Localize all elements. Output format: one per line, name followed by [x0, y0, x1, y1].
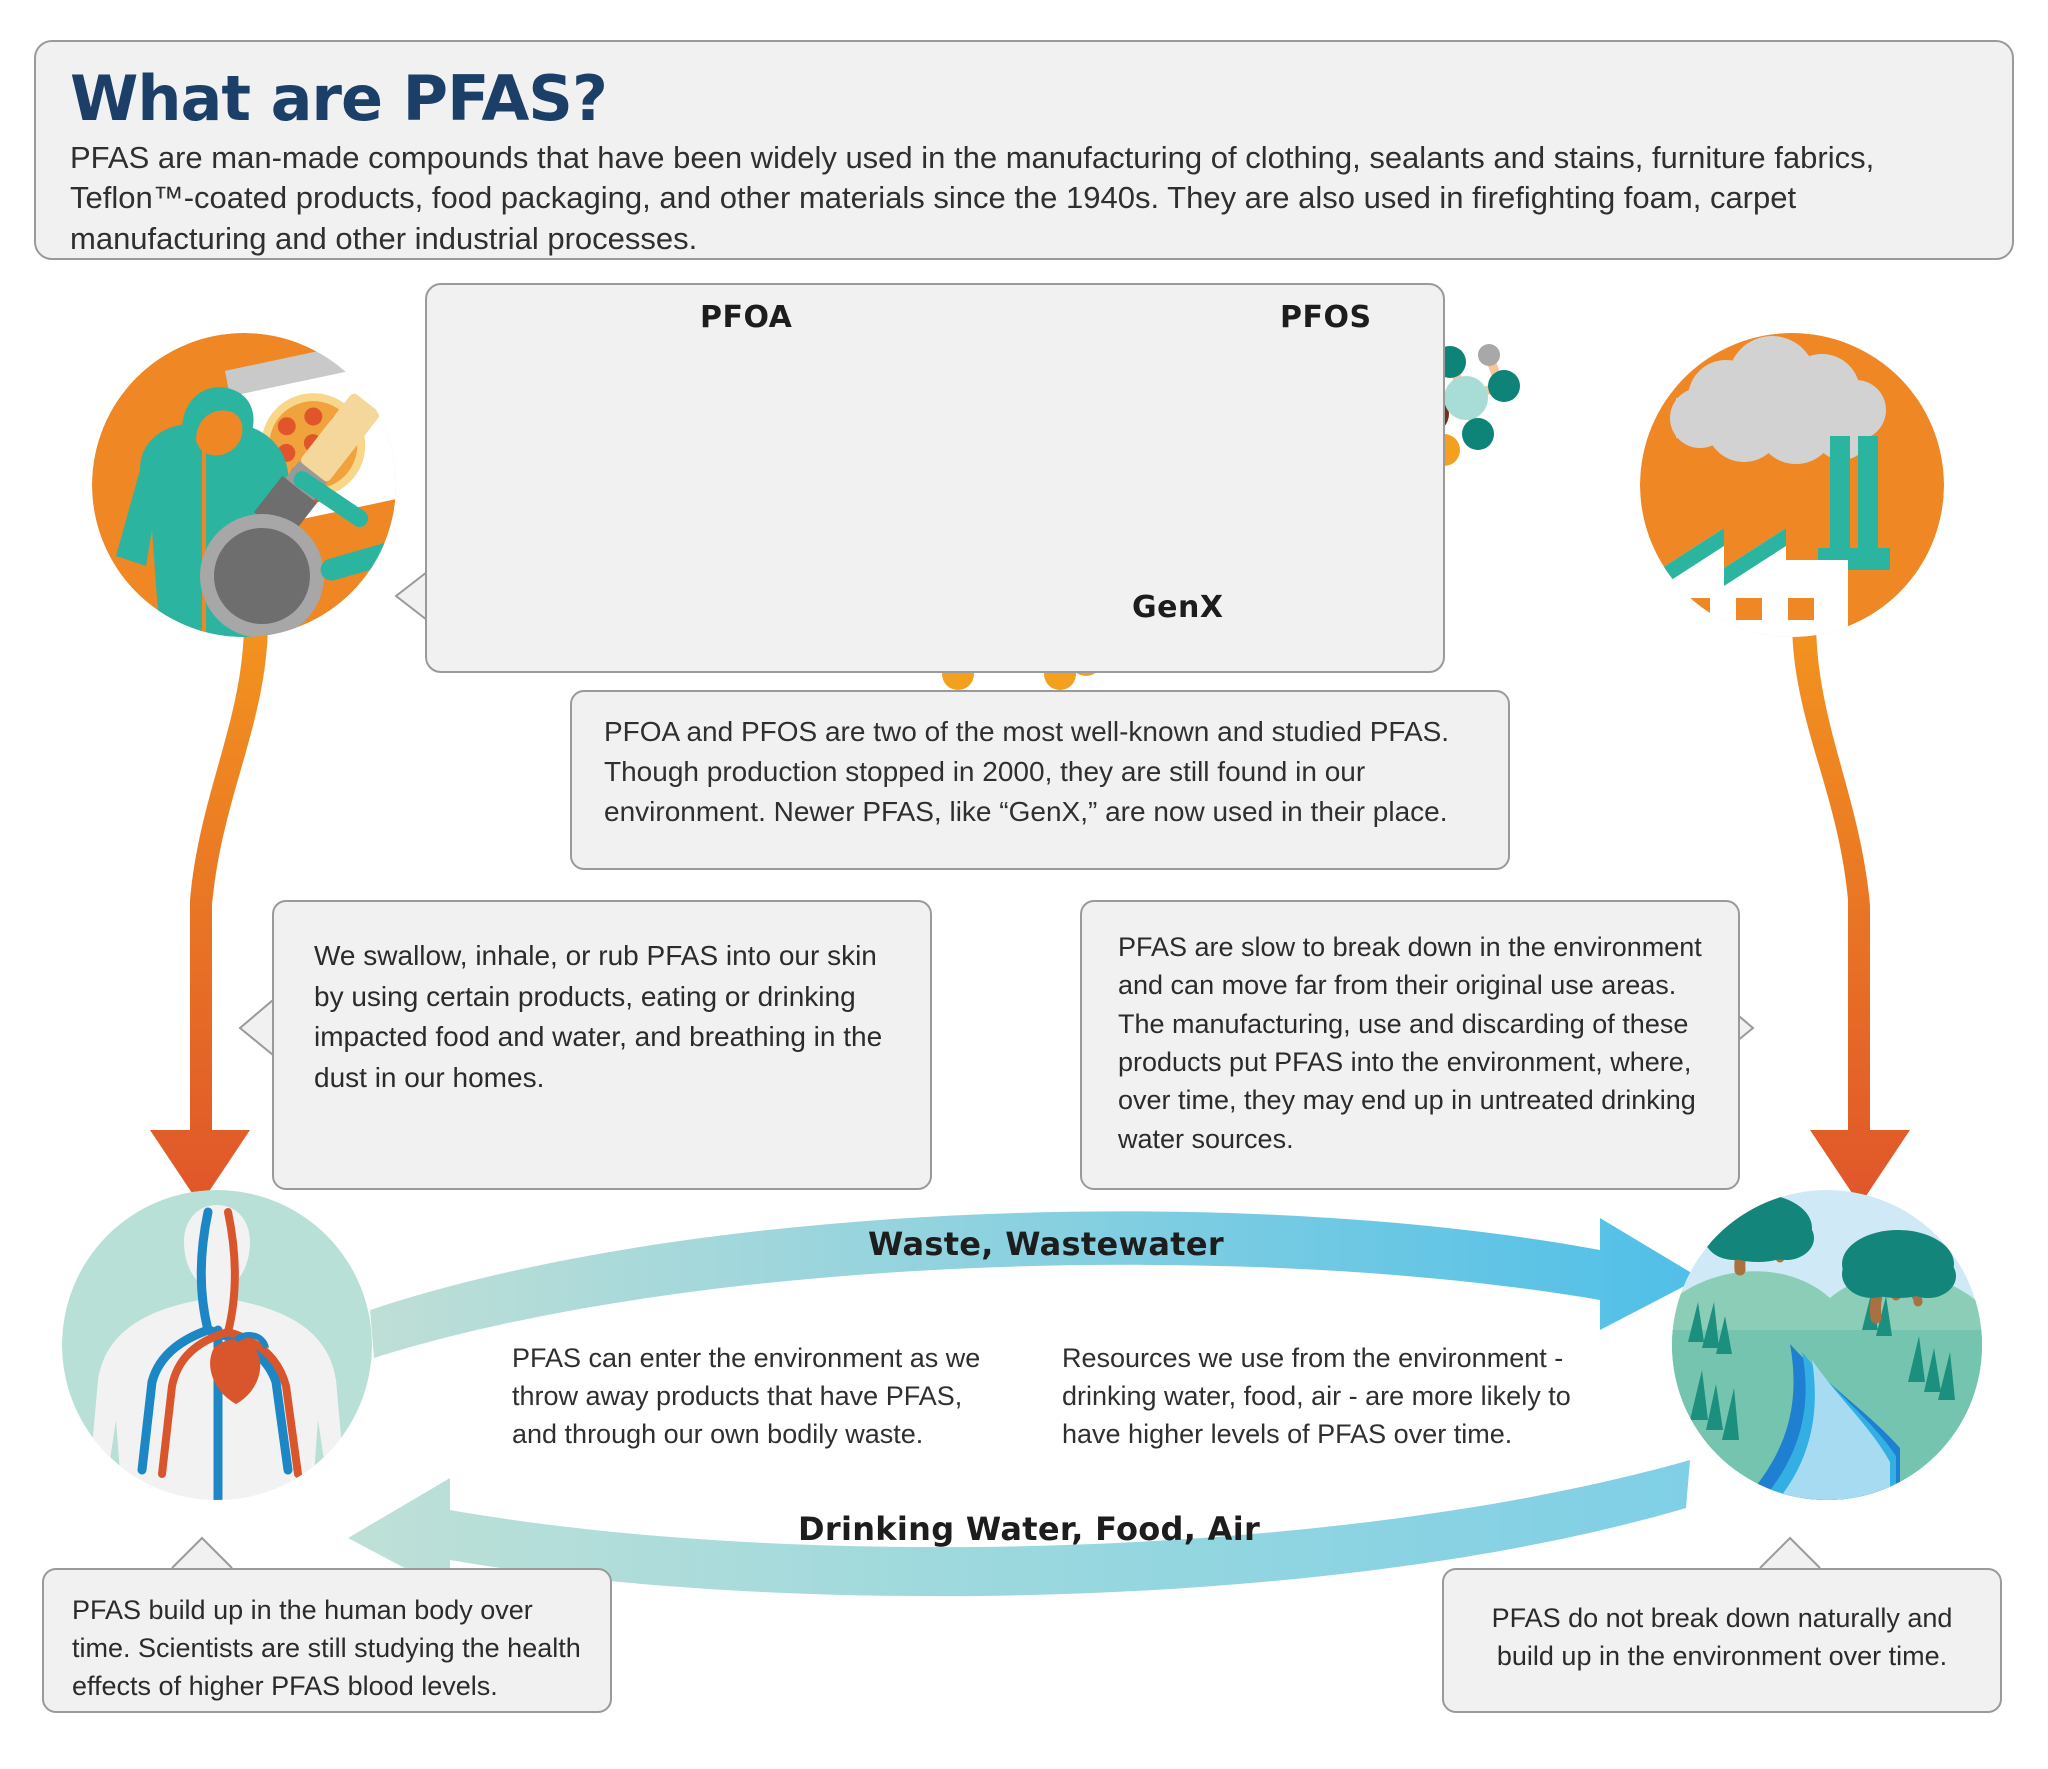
- pfoa-label: PFOA: [700, 300, 792, 335]
- body-buildup-text: PFAS build up in the human body over tim…: [72, 1592, 582, 1705]
- genx-label: GenX: [1132, 590, 1223, 625]
- env-buildup-text: PFAS do not break down naturally and bui…: [1472, 1600, 1972, 1676]
- river-landscape-icon: [1672, 1190, 1982, 1500]
- exposure-callout-text: We swallow, inhale, or rub PFAS into our…: [314, 936, 890, 1098]
- page-title: What are PFAS?: [70, 68, 1978, 130]
- band-label-waste: Waste, Wastewater: [868, 1225, 1224, 1263]
- header-description: PFAS are man-made compounds that have be…: [70, 138, 1970, 259]
- consumer-products-icon: [92, 333, 413, 640]
- pfos-label: PFOS: [1280, 300, 1372, 335]
- env-buildup-callout-box: PFAS do not break down naturally and bui…: [1442, 1568, 2002, 1713]
- header-card: What are PFAS? PFAS are man-made compoun…: [34, 40, 2014, 260]
- body-buildup-callout-box: PFAS build up in the human body over tim…: [42, 1568, 612, 1713]
- flow-right-column-text: Resources we use from the environment - …: [1062, 1340, 1602, 1453]
- molecule-card: [425, 283, 1445, 673]
- band-label-drinking-water: Drinking Water, Food, Air: [798, 1510, 1260, 1548]
- factory-smokestack-icon: [1640, 333, 1944, 640]
- molecule-description: PFOA and PFOS are two of the most well-k…: [604, 712, 1484, 831]
- exposure-callout-box: We swallow, inhale, or rub PFAS into our…: [272, 900, 932, 1190]
- arrow-products-to-body: [150, 620, 268, 1205]
- human-circulatory-system-icon: [62, 1190, 372, 1500]
- infographic-canvas: [0, 0, 2048, 1769]
- arrow-factory-to-nature: [1792, 620, 1910, 1205]
- environment-callout-box: PFAS are slow to break down in the envir…: [1080, 900, 1740, 1190]
- environment-callout-text: PFAS are slow to break down in the envir…: [1118, 928, 1702, 1158]
- flow-left-column-text: PFAS can enter the environment as we thr…: [512, 1340, 1012, 1453]
